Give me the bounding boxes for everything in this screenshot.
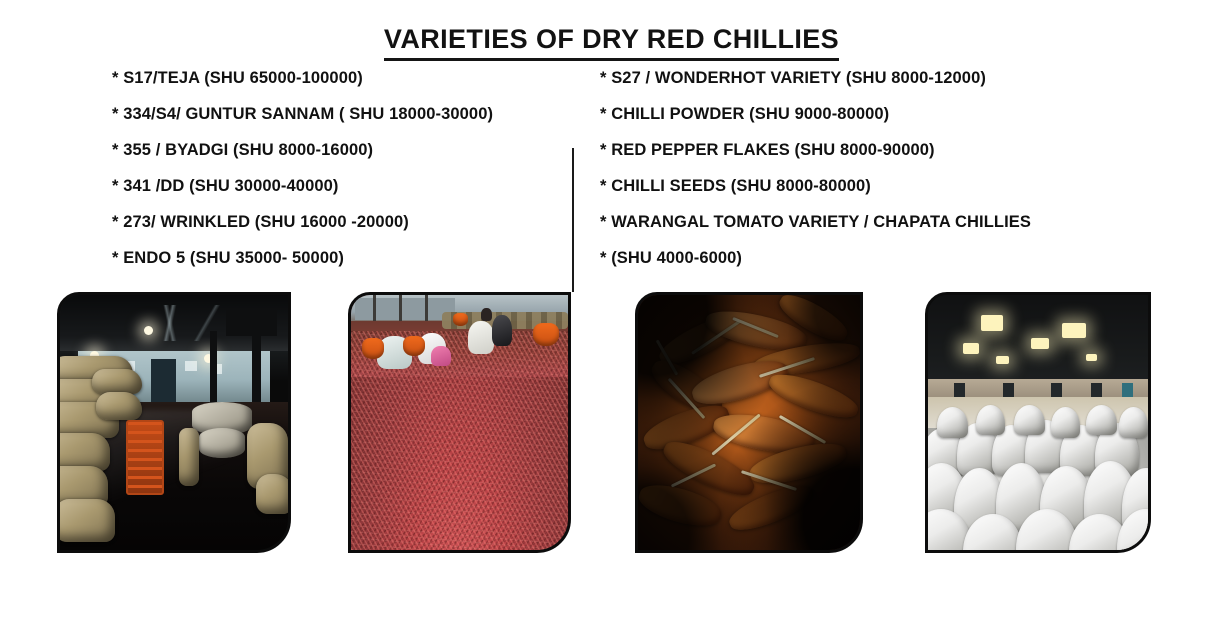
varieties-left-column: * S17/TEJA (SHU 65000-100000) * 334/S4/ … xyxy=(112,60,562,276)
list-item: * S17/TEJA (SHU 65000-100000) xyxy=(112,60,562,96)
list-item: * RED PEPPER FLAKES (SHU 8000-90000) xyxy=(600,132,1160,168)
varieties-right-column: * S27 / WONDERHOT VARIETY (SHU 8000-1200… xyxy=(600,60,1160,276)
photo-dried-red-chillies-closeup xyxy=(635,292,863,553)
photo-white-sacks-storage-warehouse xyxy=(925,292,1151,553)
list-item: * (SHU 4000-6000) xyxy=(600,240,1160,276)
list-item: * 273/ WRINKLED (SHU 16000 -20000) xyxy=(112,204,562,240)
photo-chilli-drying-yard xyxy=(348,292,571,553)
list-item: * CHILLI POWDER (SHU 9000-80000) xyxy=(600,96,1160,132)
list-item: * S27 / WONDERHOT VARIETY (SHU 8000-1200… xyxy=(600,60,1160,96)
photo-chilli-warehouse-jute-sacks xyxy=(57,292,291,553)
list-item: * WARANGAL TOMATO VARIETY / CHAPATA CHIL… xyxy=(600,204,1160,240)
list-item: * 341 /DD (SHU 30000-40000) xyxy=(112,168,562,204)
varieties-list-section: * S17/TEJA (SHU 65000-100000) * 334/S4/ … xyxy=(0,60,1223,275)
list-item: * 334/S4/ GUNTUR SANNAM ( SHU 18000-3000… xyxy=(112,96,562,132)
column-divider xyxy=(572,148,574,292)
page-title: VARIETIES OF DRY RED CHILLIES xyxy=(384,24,839,61)
list-item: * ENDO 5 (SHU 35000- 50000) xyxy=(112,240,562,276)
list-item: * CHILLI SEEDS (SHU 8000-80000) xyxy=(600,168,1160,204)
list-item: * 355 / BYADGI (SHU 8000-16000) xyxy=(112,132,562,168)
photo-strip xyxy=(0,292,1223,554)
